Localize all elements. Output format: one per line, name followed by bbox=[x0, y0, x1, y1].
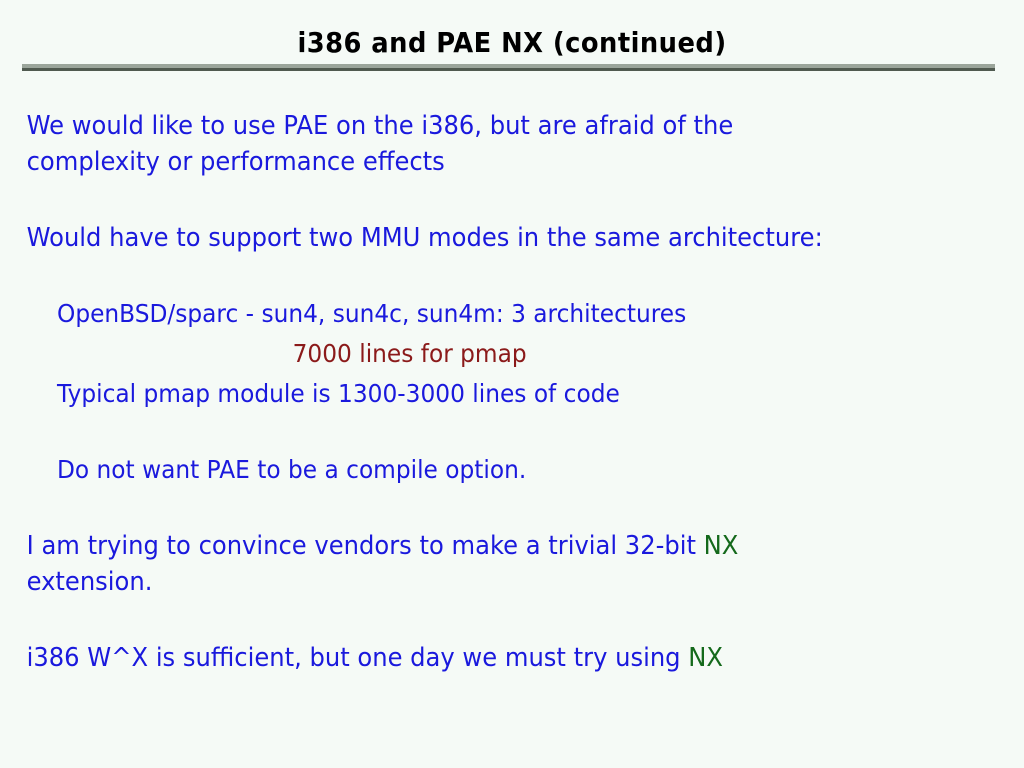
bullet-openbsd-sparc: OpenBSD/sparc - sun4, sun4c, sun4m: 3 ar… bbox=[0, 296, 973, 332]
bullet-typical-pmap-module: Typical pmap module is 1300-3000 lines o… bbox=[0, 376, 973, 412]
spacer bbox=[0, 412, 1024, 452]
paragraph-two-mmu-modes: Would have to support two MMU modes in t… bbox=[0, 220, 973, 256]
paragraph-convince-vendors-text-tail: extension. bbox=[27, 567, 153, 597]
divider-dark-band bbox=[22, 68, 995, 71]
spacer bbox=[0, 180, 1024, 220]
nx-accent-label-2: NX bbox=[688, 643, 723, 673]
spacer bbox=[0, 256, 1024, 296]
subnote-pmap-lines: 7000 lines for pmap bbox=[0, 336, 973, 372]
slide: i386 and PAE NX (continued) We would lik… bbox=[0, 0, 1024, 768]
page-title: i386 and PAE NX (continued) bbox=[41, 26, 983, 59]
title-divider bbox=[22, 64, 995, 71]
slide-body: We would like to use PAE on the i386, bu… bbox=[0, 108, 1024, 676]
spacer bbox=[0, 600, 1024, 640]
paragraph-wx-sufficient: i386 W^X is sufficient, but one day we m… bbox=[0, 640, 973, 676]
bullet-no-compile-option: Do not want PAE to be a compile option. bbox=[0, 452, 973, 488]
spacer bbox=[0, 488, 1024, 528]
paragraph-convince-vendors: I am trying to convince vendors to make … bbox=[0, 528, 973, 600]
paragraph-pae-complexity: We would like to use PAE on the i386, bu… bbox=[0, 108, 973, 180]
nx-accent-label: NX bbox=[704, 531, 739, 561]
paragraph-wx-sufficient-text-lead: i386 W^X is sufficient, but one day we m… bbox=[27, 643, 689, 673]
paragraph-convince-vendors-text-lead: I am trying to convince vendors to make … bbox=[27, 531, 704, 561]
